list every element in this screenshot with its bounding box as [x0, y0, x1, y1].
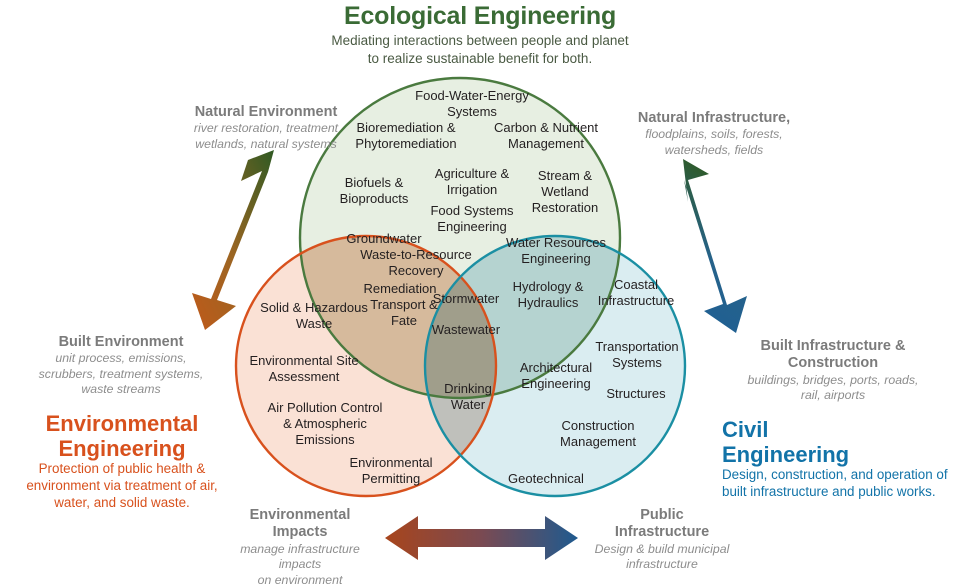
public-infrastructure-title-1: Public [580, 507, 744, 524]
natural-infrastructure-title: Natural Infrastructure, [604, 110, 824, 127]
civil-engineering-sub-2: built infrastructure and public works. [722, 484, 960, 501]
natural-environment-sub-2: wetlands, natural systems [166, 137, 366, 152]
eco-item-carbon-nutrient-management: Carbon & Nutrient Management [482, 120, 610, 152]
ecological-engineering-venn-diagram: Ecological Engineering Mediating interac… [0, 0, 960, 584]
label-built-environment: Built Environment unit process, emission… [6, 334, 236, 397]
overlap-eco-env-groundwater: Groundwater [332, 231, 436, 247]
environmental-impacts-to-public-infrastructure-arrow [385, 516, 578, 560]
overlap-all-three-wastewater: Wastewater [414, 322, 518, 338]
brand-environmental-engineering: Environmental Engineering Protection of … [2, 412, 242, 512]
natural-infrastructure-to-built-infrastructure-arrow [683, 159, 747, 333]
natural-infrastructure-sub-2: watersheds, fields [604, 143, 824, 158]
civ-item-coastal-infrastructure: Coastal Infrastructure [580, 277, 692, 309]
built-environment-sub-2: scrubbers, treatment systems, [6, 367, 236, 382]
overlap-eco-env-waste-to-resource-recovery: Waste-to-Resource Recovery [354, 247, 478, 279]
env-item-environmental-site-assessment: Environmental Site Assessment [234, 353, 374, 385]
civ-item-structures: Structures [590, 386, 682, 402]
label-built-infrastructure: Built Infrastructure & Construction buil… [712, 338, 954, 404]
label-environmental-impacts: Environmental Impacts manage infrastruct… [218, 507, 382, 588]
label-natural-environment: Natural Environment river restoration, t… [166, 104, 366, 152]
overlap-env-civ-drinking-water: Drinking Water [420, 381, 516, 413]
environmental-engineering-sub-2: environment via treatment of air, [2, 478, 242, 495]
public-infrastructure-title-2: Infrastructure [580, 524, 744, 541]
civil-engineering-sub-1: Design, construction, and operation of [722, 467, 960, 484]
env-item-air-pollution-control: Air Pollution Control & Atmospheric Emis… [250, 400, 400, 448]
natural-infrastructure-sub-1: floodplains, soils, forests, [604, 127, 824, 142]
env-item-environmental-permitting: Environmental Permitting [334, 455, 448, 487]
public-infrastructure-sub-1: Design & build municipal [580, 542, 744, 557]
label-public-infrastructure: Public Infrastructure Design & build mun… [580, 507, 744, 573]
natural-environment-title: Natural Environment [166, 104, 366, 121]
environmental-engineering-sub-1: Protection of public health & [2, 461, 242, 478]
built-environment-sub-1: unit process, emissions, [6, 351, 236, 366]
environmental-engineering-title-1: Environmental [2, 412, 242, 437]
built-environment-title: Built Environment [6, 334, 236, 351]
civ-item-geotechnical: Geotechnical [496, 471, 596, 487]
environmental-impacts-title-2: Impacts [218, 524, 382, 541]
brand-civil-engineering: Civil Engineering Design, construction, … [722, 418, 960, 501]
environmental-impacts-sub-2: on environment [218, 573, 382, 588]
built-environment-sub-3: waste streams [6, 382, 236, 397]
label-natural-infrastructure: Natural Infrastructure, floodplains, soi… [604, 110, 824, 158]
built-infrastructure-title-1: Built Infrastructure & [712, 338, 954, 355]
environmental-impacts-sub-1: manage infrastructure impacts [218, 542, 382, 573]
environmental-impacts-title-1: Environmental [218, 507, 382, 524]
overlap-eco-civ-water-resources-engineering: Water Resources Engineering [494, 235, 618, 267]
env-item-solid-hazardous-waste: Solid & Hazardous Waste [244, 300, 384, 332]
eco-item-food-water-energy-systems: Food-Water-Energy Systems [402, 88, 542, 120]
civil-engineering-title-2: Engineering [722, 443, 960, 468]
built-infrastructure-sub-2: rail, airports [712, 388, 954, 403]
built-infrastructure-title-2: Construction [712, 355, 954, 372]
eco-item-food-systems-engineering: Food Systems Engineering [410, 203, 534, 235]
civ-item-construction-management: Construction Management [540, 418, 656, 450]
civ-item-transportation-systems: Transportation Systems [580, 339, 694, 371]
overlap-all-three-stormwater: Stormwater [416, 291, 516, 307]
environmental-engineering-title-2: Engineering [2, 437, 242, 462]
civil-engineering-title-1: Civil [722, 418, 960, 443]
environmental-engineering-sub-3: water, and solid waste. [2, 495, 242, 512]
built-infrastructure-sub-1: buildings, bridges, ports, roads, [712, 373, 954, 388]
natural-environment-sub-1: river restoration, treatment [166, 121, 366, 136]
public-infrastructure-sub-2: infrastructure [580, 557, 744, 572]
